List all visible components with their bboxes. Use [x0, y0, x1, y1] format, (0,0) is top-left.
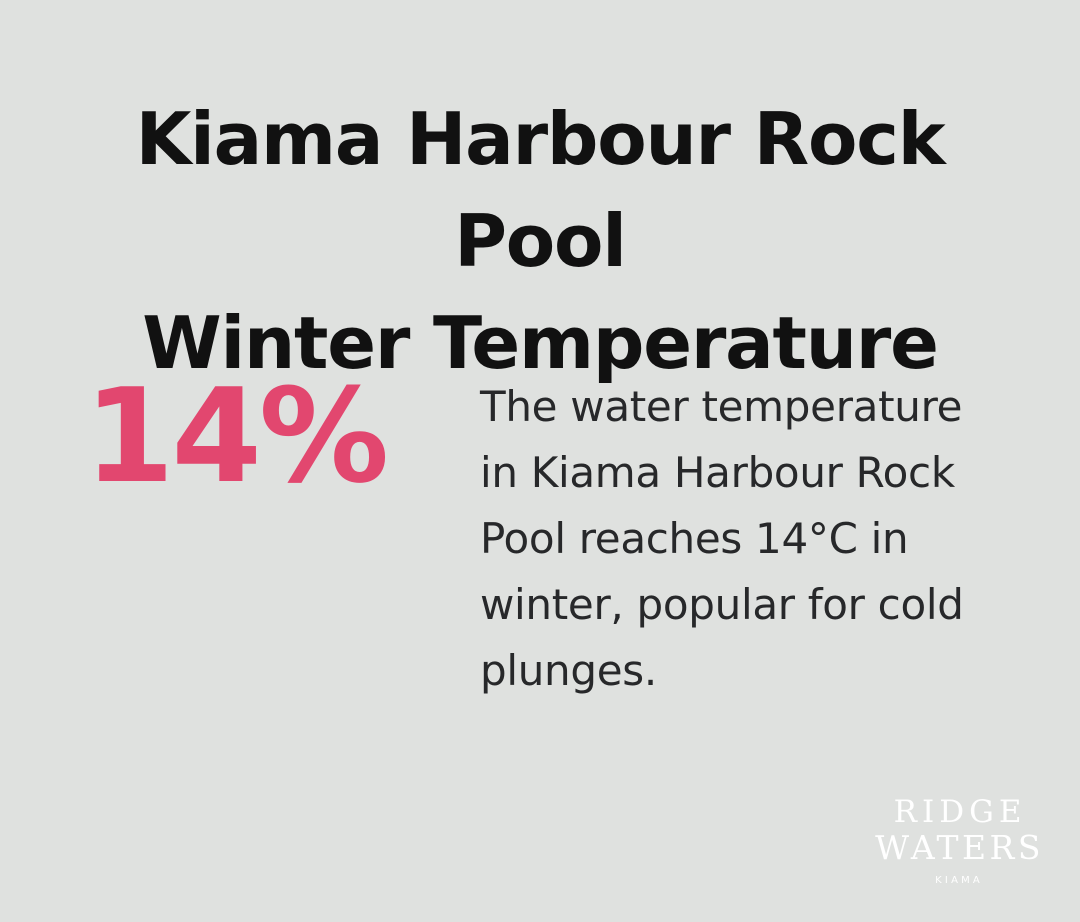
page-title-line-1: Kiama Harbour Rock Pool — [60, 88, 1020, 292]
stat-row: 14% The water temperature in Kiama Harbo… — [84, 368, 996, 704]
brand-watermark: RIDGE WATERS KIAMA — [871, 797, 1044, 886]
brand-name-line-1: RIDGE — [871, 797, 1044, 828]
brand-name-line-2: WATERS — [871, 831, 1044, 864]
stat-description: The water temperature in Kiama Harbour R… — [480, 368, 990, 704]
page-title: Kiama Harbour Rock Pool Winter Temperatu… — [60, 88, 1020, 395]
infographic-card: Kiama Harbour Rock Pool Winter Temperatu… — [0, 0, 1080, 922]
brand-tagline: KIAMA — [871, 875, 1044, 886]
stat-value: 14% — [84, 368, 480, 503]
